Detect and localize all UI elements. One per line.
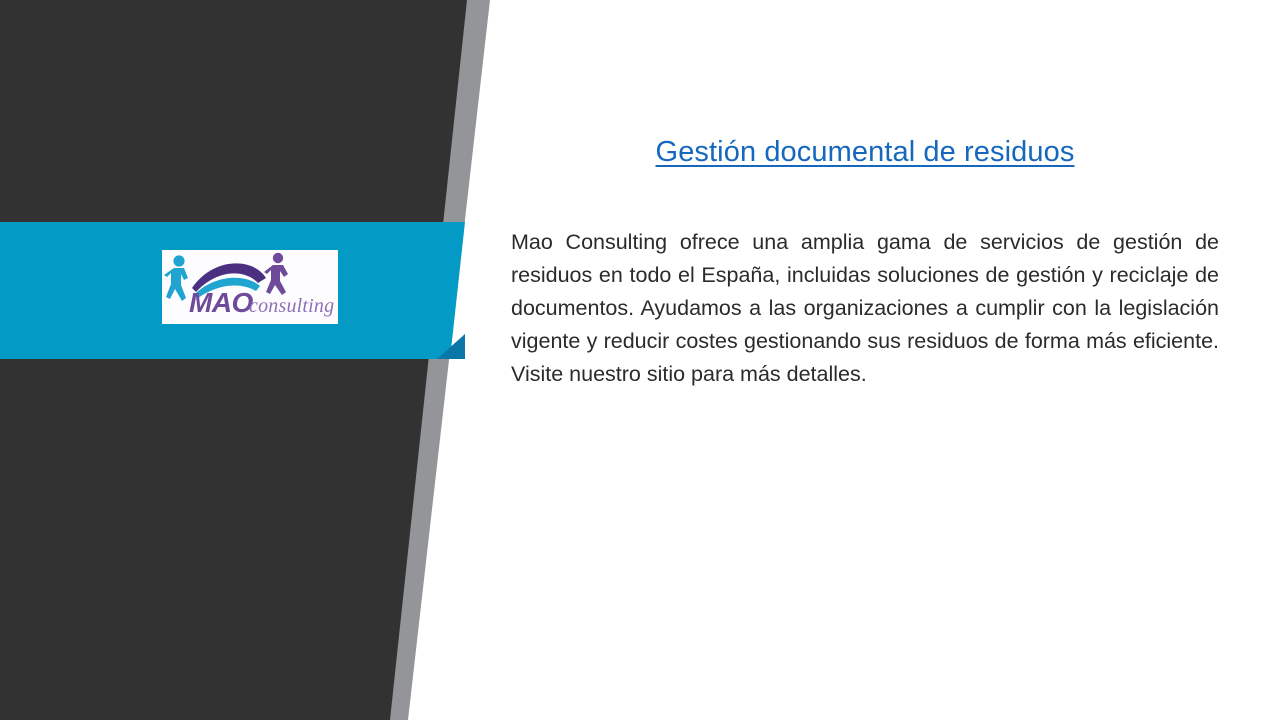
content-column: Gestión documental de residuos Mao Consu… (511, 0, 1219, 720)
panel-gray-stripe (0, 0, 490, 720)
slide-canvas: MAO consulting Gestión documental de res… (0, 0, 1280, 720)
slide-title-link[interactable]: Gestión documental de residuos (656, 133, 1075, 171)
panel-dark-shape (0, 0, 467, 720)
slide-body-paragraph: Mao Consulting ofrece una amplia gama de… (511, 226, 1219, 391)
mao-consulting-logo: MAO consulting (162, 250, 338, 324)
logo-wordmark-primary: MAO (189, 287, 254, 318)
logo-container: MAO consulting (162, 250, 338, 324)
logo-band: MAO consulting (0, 222, 472, 359)
logo-wordmark-secondary: consulting (249, 295, 334, 317)
title-row: Gestión documental de residuos (511, 133, 1219, 171)
